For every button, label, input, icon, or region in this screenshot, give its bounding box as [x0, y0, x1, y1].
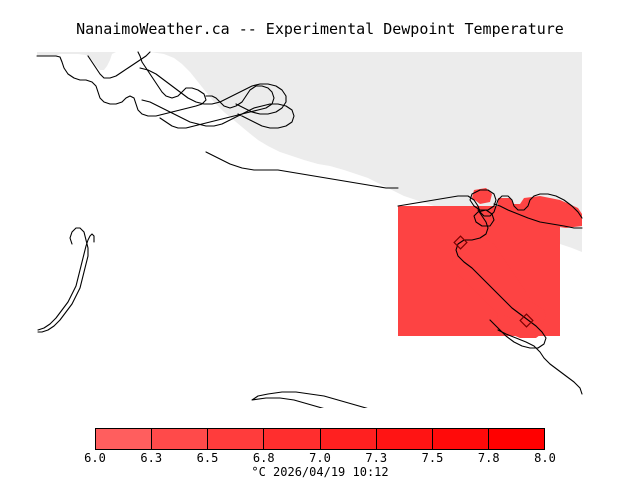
colorbar-tick-7.0: 7.0 — [309, 451, 331, 465]
colorbar-segment-4[interactable] — [321, 429, 377, 449]
page-title: NanaimoWeather.ca -- Experimental Dewpoi… — [0, 20, 640, 38]
colorbar-tick-6.5: 6.5 — [197, 451, 219, 465]
colorbar-segment-3[interactable] — [264, 429, 320, 449]
colorbar-segment-2[interactable] — [208, 429, 264, 449]
colorbar-tick-8.0: 8.0 — [534, 451, 556, 465]
colorbar-tick-6.0: 6.0 — [84, 451, 106, 465]
map-graphic[interactable] — [0, 48, 640, 408]
coastline-island-sliver-west — [38, 228, 88, 332]
data-coverage-layer — [398, 188, 582, 338]
coastline-island-sliver-south — [252, 392, 404, 408]
colorbar[interactable] — [95, 428, 545, 450]
colorbar-segment-7[interactable] — [489, 429, 544, 449]
map-canvas[interactable] — [0, 48, 640, 408]
colorbar-tick-7.3: 7.3 — [365, 451, 387, 465]
colorbar-segment-6[interactable] — [433, 429, 489, 449]
colorbar-segment-1[interactable] — [152, 429, 208, 449]
colorbar-tick-7.5: 7.5 — [422, 451, 444, 465]
colorbar-segment-0[interactable] — [96, 429, 152, 449]
colorbar-tick-6.8: 6.8 — [253, 451, 275, 465]
colorbar-segment-5[interactable] — [377, 429, 433, 449]
coastline-island-sliver-west-2 — [38, 234, 94, 330]
colorbar-tick-6.3: 6.3 — [140, 451, 162, 465]
weather-map-page: NanaimoWeather.ca -- Experimental Dewpoi… — [0, 0, 640, 480]
colorbar-tick-7.8: 7.8 — [478, 451, 500, 465]
colorbar-caption: °C 2026/04/19 10:12 — [0, 465, 640, 479]
colorbar-wrapper[interactable] — [95, 428, 545, 450]
